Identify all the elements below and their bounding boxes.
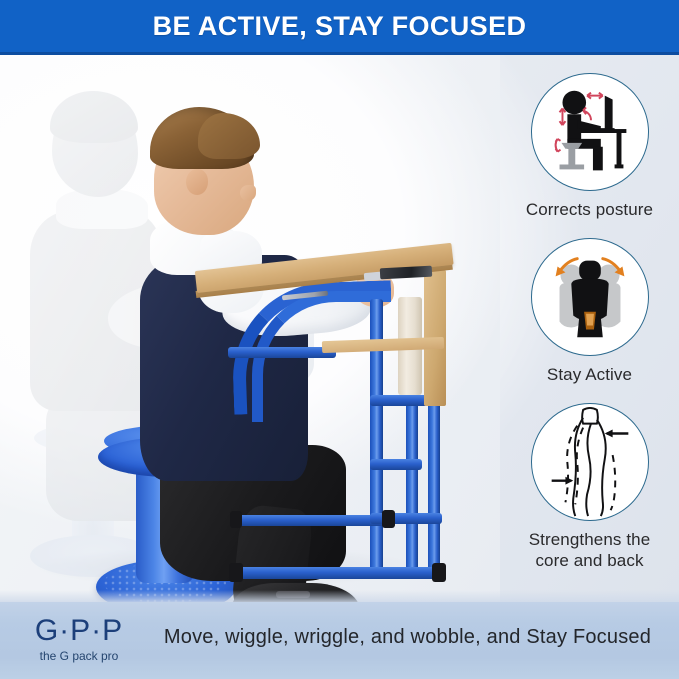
person-moving-with-motion-arrows-icon	[531, 238, 649, 356]
brand-logo-mark: G·P·P	[14, 616, 144, 646]
desk-frame-cross-lower	[370, 513, 442, 524]
feature-label: Corrects posture	[500, 199, 679, 220]
desk-frame-shelf-rail	[228, 347, 336, 358]
brand-logo: G·P·P the G pack pro	[14, 616, 144, 663]
feature-label: Strengthens the core and back	[500, 529, 679, 571]
header-banner: BE ACTIVE, STAY FOCUSED	[0, 0, 679, 52]
boy-hair-top	[198, 113, 260, 159]
base-foot-left	[229, 563, 243, 582]
person-at-adjustable-desk-icon	[531, 73, 649, 191]
desk-frame-cross-mid	[370, 459, 422, 470]
feature-list: Corrects posture	[500, 55, 679, 602]
boy-ear	[186, 169, 208, 195]
feature-stay-active: Stay Active	[500, 238, 679, 385]
base-foot-right	[432, 563, 446, 582]
desk-frame-base-rail	[236, 567, 442, 579]
feature-label-line1: Strengthens the	[500, 529, 679, 550]
feature-label: Stay Active	[500, 364, 679, 385]
product-photo	[0, 55, 500, 602]
feature-corrects-posture: Corrects posture	[500, 73, 679, 220]
spine-core-and-back-icon	[531, 403, 649, 521]
boy-nose	[240, 185, 256, 201]
product-infographic: BE ACTIVE, STAY FOCUSED	[0, 0, 679, 679]
feature-label-line2: core and back	[500, 550, 679, 571]
ghost-hair	[50, 91, 138, 143]
footrest-bar	[236, 515, 388, 526]
brand-logo-tagline: the G pack pro	[14, 649, 144, 663]
footrest-end-cap-left	[230, 511, 242, 528]
page-title: BE ACTIVE, STAY FOCUSED	[0, 0, 679, 52]
footer-tagline: Move, wiggle, wriggle, and wobble, and S…	[150, 626, 665, 649]
footrest-end-cap-right	[382, 510, 395, 528]
feature-strengthens-core-and-back: Strengthens the core and back	[500, 403, 679, 571]
main-content: Corrects posture	[0, 55, 679, 602]
